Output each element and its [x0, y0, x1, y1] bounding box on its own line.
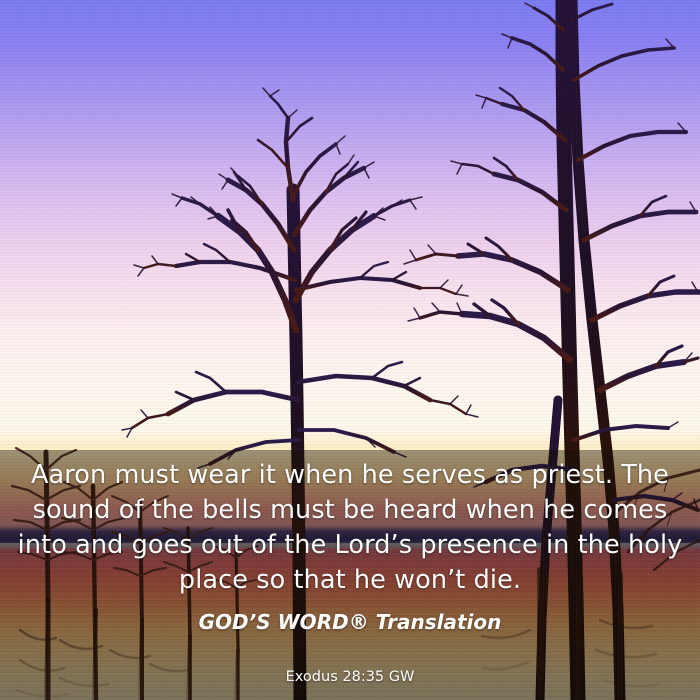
- verse-reference: Exodus 28:35 GW: [0, 668, 700, 686]
- verse-text: Aaron must wear it when he serves as pri…: [14, 458, 686, 598]
- translation-attribution: GOD’S WORD® Translation: [199, 610, 502, 634]
- verse-image-canvas: Aaron must wear it when he serves as pri…: [0, 0, 700, 700]
- verse-text-block: Aaron must wear it when he serves as pri…: [0, 450, 700, 700]
